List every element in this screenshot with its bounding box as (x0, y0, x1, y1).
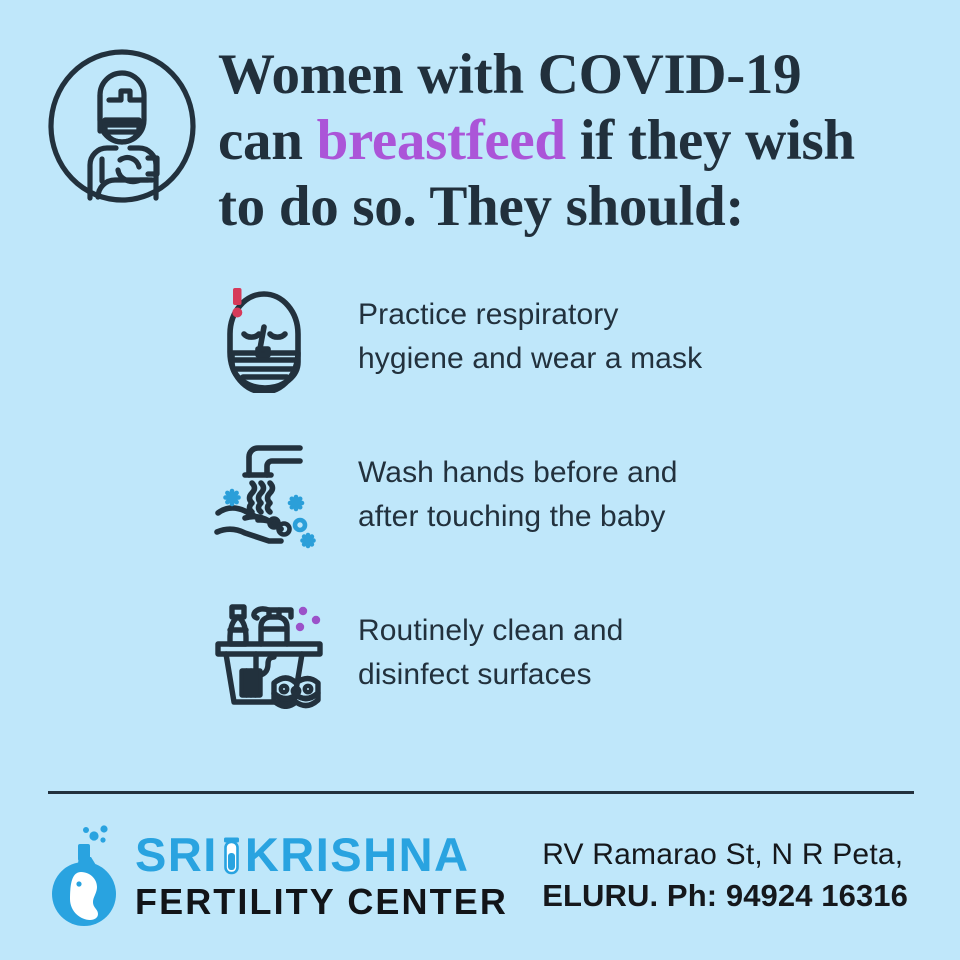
headline-line-2: can breastfeed if they wish (218, 108, 855, 174)
brand-wordmark: SRI KRISHNA FERTILITY CENTER (126, 831, 508, 920)
breastfeeding-mother-masked-icon (48, 46, 196, 206)
test-tube-icon (223, 837, 240, 875)
cleaning-bucket-spray-sponge-icon (212, 597, 330, 709)
footer: SRI KRISHNA FERTILITY CENTER RV Ramarao … (48, 818, 914, 933)
list-item: Wash hands before and after touching the… (212, 436, 912, 554)
brand-logo: SRI KRISHNA FERTILITY CENTER (48, 824, 508, 928)
brand-line-1: SRI KRISHNA (135, 831, 508, 878)
tip-2-line-1: Wash hands before and (358, 451, 678, 495)
list-item: Practice respiratory hygiene and wear a … (212, 278, 912, 396)
list-item-label: Wash hands before and after touching the… (330, 451, 678, 540)
infographic-poster: Women with COVID-19 can breastfeed if th… (0, 0, 960, 960)
header: Women with COVID-19 can breastfeed if th… (48, 42, 918, 240)
brand-word-krishna: KRISHNA (245, 831, 470, 878)
brand-word-sri-partial: SRI (135, 831, 218, 878)
tips-list: Practice respiratory hygiene and wear a … (212, 278, 912, 712)
headline-line-1: Women with COVID-19 (218, 42, 855, 108)
footer-divider (48, 791, 914, 794)
sparkle-dots (296, 607, 320, 631)
brand-line-2: FERTILITY CENTER (135, 884, 508, 920)
contact-phone: ELURU. Ph: 94924 16316 (542, 876, 908, 915)
alert-exclamation (232, 288, 242, 318)
tip-1-line-1: Practice respiratory (358, 293, 702, 337)
page-title: Women with COVID-19 can breastfeed if th… (196, 42, 855, 240)
tip-3-line-1: Routinely clean and (358, 609, 623, 653)
flask-fetus-logo-icon (48, 824, 126, 928)
sparkle (226, 491, 239, 504)
headline-suffix: if they wish (566, 109, 855, 172)
tip-3-line-2: disinfect surfaces (358, 653, 623, 697)
list-item: Routinely clean and disinfect surfaces (212, 594, 912, 712)
contact-address: RV Ramarao St, N R Peta, (542, 836, 908, 874)
headline-line-3: to do so. They should: (218, 174, 855, 240)
list-item-label: Routinely clean and disinfect surfaces (330, 609, 623, 698)
sparkle (290, 497, 302, 509)
handwashing-faucet-icon (212, 439, 330, 551)
sparkle (303, 535, 314, 546)
masked-face-alert-icon (212, 281, 330, 393)
contact-block: RV Ramarao St, N R Peta, ELURU. Ph: 9492… (542, 836, 914, 915)
tip-2-line-2: after touching the baby (358, 495, 678, 539)
headline-accent-word: breastfeed (317, 109, 566, 172)
list-item-label: Practice respiratory hygiene and wear a … (330, 293, 702, 382)
headline-prefix: can (218, 109, 317, 172)
tip-1-line-2: hygiene and wear a mask (358, 337, 702, 381)
